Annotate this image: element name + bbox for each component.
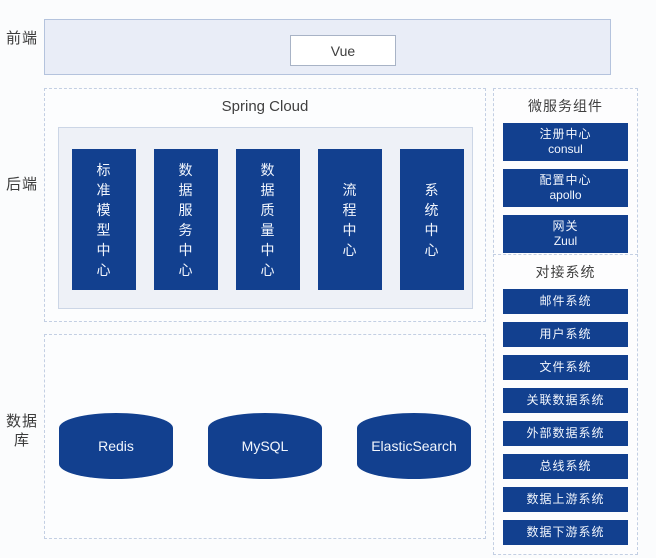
integration-item-downstream-data-system[interactable]: 数据下游系统 bbox=[503, 520, 628, 545]
microservice-item-config-label: 配置中心 bbox=[539, 173, 591, 187]
microservice-item-gateway[interactable]: 网关 Zuul bbox=[503, 215, 628, 253]
tier-label-backend: 后端 bbox=[6, 175, 38, 194]
microservice-item-registry-label: 注册中心 bbox=[539, 127, 591, 141]
integration-systems-panel: 对接系统 邮件系统 用户系统 文件系统 关联数据系统 外部数据系统 总线系统 数… bbox=[493, 254, 638, 555]
integration-item-user-system[interactable]: 用户系统 bbox=[503, 322, 628, 347]
microservice-item-gateway-label: 网关 bbox=[552, 219, 578, 233]
tier-label-frontend: 前端 bbox=[6, 29, 38, 48]
integration-item-external-data-system[interactable]: 外部数据系统 bbox=[503, 421, 628, 446]
integration-item-bus-system[interactable]: 总线系统 bbox=[503, 454, 628, 479]
service-box-data-service-center[interactable]: 数据服务中心 bbox=[154, 149, 218, 290]
service-box-data-quality-center[interactable]: 数据质量中心 bbox=[236, 149, 300, 290]
service-box-row: 标准模型中心 数据服务中心 数据质量中心 流程中心 系统中心 bbox=[72, 149, 464, 290]
integration-panel-title: 对接系统 bbox=[503, 262, 628, 282]
spring-cloud-title: Spring Cloud bbox=[45, 98, 485, 115]
microservice-item-registry-sub: consul bbox=[505, 142, 626, 157]
frontend-tier-panel: Vue bbox=[44, 19, 611, 75]
database-cylinder-redis[interactable]: Redis bbox=[59, 413, 173, 479]
service-box-process-center[interactable]: 流程中心 bbox=[318, 149, 382, 290]
microservice-item-config[interactable]: 配置中心 apollo bbox=[503, 169, 628, 207]
microservice-item-registry[interactable]: 注册中心 consul bbox=[503, 123, 628, 161]
backend-tier-panel: Spring Cloud 标准模型中心 数据服务中心 数据质量中心 流程中心 系… bbox=[44, 88, 486, 322]
spring-cloud-inner-panel: 标准模型中心 数据服务中心 数据质量中心 流程中心 系统中心 bbox=[58, 127, 473, 309]
microservice-item-gateway-sub: Zuul bbox=[505, 234, 626, 249]
service-box-system-center[interactable]: 系统中心 bbox=[400, 149, 464, 290]
integration-item-upstream-data-system[interactable]: 数据上游系统 bbox=[503, 487, 628, 512]
integration-item-file-system[interactable]: 文件系统 bbox=[503, 355, 628, 380]
integration-item-linked-data-system[interactable]: 关联数据系统 bbox=[503, 388, 628, 413]
architecture-diagram: 前端 后端 数据库 Vue Spring Cloud 标准模型中心 数据服务中心… bbox=[0, 0, 656, 558]
microservice-item-config-sub: apollo bbox=[505, 188, 626, 203]
service-box-standard-model-center[interactable]: 标准模型中心 bbox=[72, 149, 136, 290]
integration-item-mail-system[interactable]: 邮件系统 bbox=[503, 289, 628, 314]
frontend-component-vue[interactable]: Vue bbox=[290, 35, 396, 66]
microservice-components-panel: 微服务组件 注册中心 consul 配置中心 apollo 网关 Zuul bbox=[493, 88, 638, 263]
database-cylinder-elasticsearch[interactable]: ElasticSearch bbox=[357, 413, 471, 479]
tier-label-database: 数据库 bbox=[6, 412, 38, 450]
database-cylinder-row: Redis MySQL ElasticSearch bbox=[59, 413, 471, 479]
microservice-panel-title: 微服务组件 bbox=[503, 96, 628, 116]
database-cylinder-mysql[interactable]: MySQL bbox=[208, 413, 322, 479]
database-tier-panel: Redis MySQL ElasticSearch bbox=[44, 334, 486, 539]
